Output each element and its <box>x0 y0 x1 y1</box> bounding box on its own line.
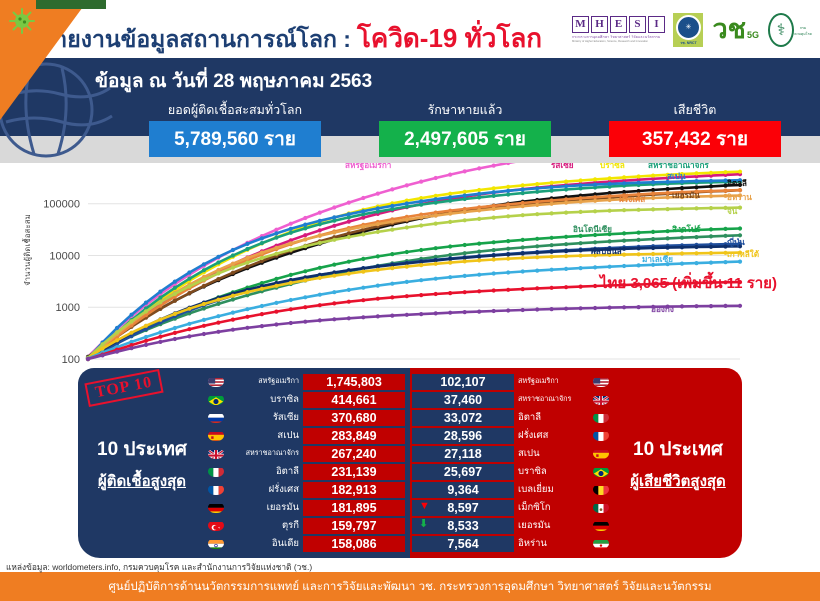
flag-icon-ru <box>208 412 224 423</box>
table-row: สหรัฐอเมริกา1,745,803 <box>208 373 405 390</box>
stat-total-cases: ยอดผู้ติดเชื้อสะสมทั่วโลก 5,789,560 ราย <box>120 104 350 166</box>
table-row: ตุรกี159,797 <box>208 517 405 534</box>
top10-cases-panel: TOP 10 10 ประเทศ ผู้ติดเชื้อสูงสุด สหรัฐ… <box>78 368 410 558</box>
table-row: 102,107สหรัฐอเมริกา <box>412 373 609 390</box>
country-value: 9,364 <box>412 482 514 498</box>
epidemic-curve-chart: 100100010000100000สหรัฐอเมริการัสเซียบรา… <box>0 163 820 368</box>
data-source-note: แหล่งข้อมูล: worldometers.info, กรมควบคุ… <box>6 560 312 574</box>
series-label-12: ญี่ปุ่น <box>727 236 745 248</box>
stat-total-cases-label: ยอดผู้ติดเชื้อสะสมทั่วโลก <box>120 104 350 118</box>
country-name: สหราชอาณาจักร <box>228 448 299 459</box>
series-label-9: จีน <box>727 206 738 216</box>
country-name: เยอรมัน <box>228 500 299 515</box>
mhesi-letter: H <box>591 16 608 33</box>
series-label-15: มาเลเซีย <box>642 254 673 264</box>
footer-bar: ศูนย์ปฏิบัติการด้านนวัตกรรมการแพทย์ และก… <box>0 572 820 601</box>
flag-icon-ir <box>593 538 609 549</box>
mhesi-letter: E <box>610 16 627 33</box>
stat-recovered: รักษาหายแล้ว 2,497,605 ราย <box>350 104 580 166</box>
series-label-10: อินโดนีเซีย <box>573 224 612 234</box>
top10-stamp: TOP 10 <box>84 369 163 407</box>
top10-deaths-panel: 102,107สหรัฐอเมริกา37,460สหราชอาณาจักร33… <box>410 368 742 558</box>
country-name: เม็กซิโก <box>518 500 589 515</box>
cases-panel-heading: TOP 10 10 ประเทศ ผู้ติดเชื้อสูงสุด <box>78 368 206 558</box>
country-name: สหรัฐอเมริกา <box>518 376 589 387</box>
flag-icon-it <box>208 466 224 477</box>
country-name: ตุรกี <box>228 518 299 533</box>
stat-recovered-label: รักษาหายแล้ว <box>350 104 580 118</box>
country-name: สเปน <box>518 446 589 461</box>
page-title-main: รายงานข้อมูลสถานการณ์โลก : <box>42 22 351 58</box>
series-3 <box>86 180 742 362</box>
country-value: 267,240 <box>303 446 405 462</box>
gear-icon: ✳ <box>676 15 701 40</box>
trend-arrow-icon: ▼ <box>419 501 430 512</box>
cases-table: สหรัฐอเมริกา1,745,803บราซิล414,661รัสเซี… <box>206 368 410 558</box>
wo-5g-badge: 5G <box>747 30 759 40</box>
table-row: 28,596ฝรั่งเศส <box>412 427 609 444</box>
flag-icon-br <box>593 466 609 477</box>
stat-deaths-value: 357,432 ราย <box>609 121 781 157</box>
trend-arrow-icon: ⬇ <box>419 519 428 530</box>
country-name: บราซิล <box>228 392 299 407</box>
mhesi-eng-caption: Ministry of Higher Education, Science, R… <box>572 40 665 44</box>
country-name: รัสเซีย <box>228 410 299 425</box>
deaths-heading-line2: ผู้เสียชีวิตสูงสุด <box>630 469 726 493</box>
virus-icon <box>9 8 35 34</box>
country-value: 158,086 <box>303 536 405 552</box>
series-label-14: เกาหลีใต้ <box>727 249 759 259</box>
flag-icon-br <box>208 394 224 405</box>
country-name: เยอรมัน <box>518 518 589 533</box>
country-value: 7,564 <box>412 536 514 552</box>
stat-recovered-value: 2,497,605 ราย <box>379 121 551 157</box>
country-value: 37,460 <box>412 392 514 408</box>
series-label-17: ฮ่องกง <box>651 305 674 314</box>
country-name: อิตาลี <box>228 464 299 479</box>
summary-stats: ยอดผู้ติดเชื้อสะสมทั่วโลก 5,789,560 ราย … <box>120 104 810 166</box>
country-name: อิหร่าน <box>518 536 589 551</box>
footer-text: ศูนย์ปฏิบัติการด้านนวัตกรรมการแพทย์ และก… <box>108 578 711 596</box>
series-label-6: เยอรมัน <box>672 191 700 200</box>
flag-icon-gb <box>208 448 224 459</box>
table-row: 27,118สเปน <box>412 445 609 462</box>
country-value: 8,533⬇ <box>412 518 514 534</box>
mhesi-letter: S <box>629 16 646 33</box>
deaths-panel-heading: 10 ประเทศ ผู้เสียชีวิตสูงสุด <box>614 368 742 558</box>
table-row: ฝรั่งเศส182,913 <box>208 481 405 498</box>
chart-y-axis-label: จำนวนผู้ติดเชื้อสะสม <box>22 214 36 286</box>
flag-icon-in <box>208 538 224 549</box>
flag-icon-es <box>593 448 609 459</box>
table-row: 33,072อิตาลี <box>412 409 609 426</box>
mhesi-letter: I <box>648 16 665 33</box>
country-name: อิตาลี <box>518 410 589 425</box>
country-value: 370,680 <box>303 410 405 426</box>
country-name: สหราชอาณาจักร <box>518 394 589 405</box>
logo-row: M H E S I กระทรวงการอุดมศึกษา วิทยาศาสตร… <box>572 13 812 47</box>
country-value: 33,072 <box>412 410 514 426</box>
stat-deaths: เสียชีวิต 357,432 ราย <box>580 104 810 166</box>
country-value: 231,139 <box>303 464 405 480</box>
chart-canvas: 100100010000100000สหรัฐอเมริการัสเซียบรา… <box>0 163 820 368</box>
series-label-7: ฝรั่งเศส <box>619 193 646 204</box>
country-value: 181,895 <box>303 500 405 516</box>
country-value: 159,797 <box>303 518 405 534</box>
country-name: สหรัฐอเมริกา <box>228 376 299 387</box>
country-name: ฝรั่งเศส <box>518 428 589 443</box>
table-row: 8,597▼เม็กซิโก <box>412 499 609 516</box>
y-axis-tick: 1000 <box>56 302 80 314</box>
flag-icon-de <box>208 502 224 513</box>
caduceus-icon: ⚕ <box>768 13 794 47</box>
y-axis-tick: 10000 <box>49 250 80 262</box>
country-value: 414,661 <box>303 392 405 408</box>
flag-icon-us <box>593 376 609 387</box>
series-label-4: สเปน <box>667 172 686 181</box>
nrct-logo: ✳ วช. NRCT <box>673 13 703 47</box>
flag-icon-es <box>208 430 224 441</box>
flag-icon-tr <box>208 520 224 531</box>
y-axis-tick: 100 <box>62 354 80 366</box>
mhesi-letter: M <box>572 16 589 33</box>
country-name: ฝรั่งเศส <box>228 482 299 497</box>
country-name: สเปน <box>228 428 299 443</box>
flag-icon-gb <box>593 394 609 405</box>
series-label-11: สิงคโปร์ <box>672 224 701 234</box>
report-date: ข้อมูล ณ วันที่ 28 พฤษภาคม 2563 <box>95 66 372 96</box>
thailand-annotation: ไทย 3,065 (เพิ่มขึ้น 11 ราย) <box>598 271 777 292</box>
flag-icon-de <box>593 520 609 531</box>
country-value: 27,118 <box>412 446 514 462</box>
country-value: 102,107 <box>412 374 514 390</box>
table-row: สหราชอาณาจักร267,240 <box>208 445 405 462</box>
table-row: บราซิล414,661 <box>208 391 405 408</box>
country-value: 8,597▼ <box>412 500 514 516</box>
flag-icon-fr <box>593 430 609 441</box>
nrct-caption: วช. NRCT <box>680 41 696 45</box>
series-label-13: ฟิลิปปินส์ <box>590 246 623 256</box>
green-top-strip <box>36 0 106 9</box>
table-row: อิตาลี231,139 <box>208 463 405 480</box>
country-name: เบลเยี่ยม <box>518 482 589 497</box>
moph-logo: ⚕ กรมควบคุมโรค <box>768 13 812 47</box>
stat-total-cases-value: 5,789,560 ราย <box>149 121 321 157</box>
flag-icon-it <box>593 412 609 423</box>
series-label-8: อิหร่าน <box>727 193 752 202</box>
table-row: 37,460สหราชอาณาจักร <box>412 391 609 408</box>
flag-icon-mx <box>593 502 609 513</box>
table-row: รัสเซีย370,680 <box>208 409 405 426</box>
page-header: รายงานข้อมูลสถานการณ์โลก : โควิด-19 ทั่ว… <box>0 9 820 58</box>
cases-heading-line1: 10 ประเทศ <box>97 434 187 464</box>
y-axis-tick: 100000 <box>43 199 80 211</box>
mhesi-letters: M H E S I <box>572 16 665 33</box>
table-row: สเปน283,849 <box>208 427 405 444</box>
table-row: 25,697บราซิล <box>412 463 609 480</box>
table-row: 9,364เบลเยี่ยม <box>412 481 609 498</box>
page-title: รายงานข้อมูลสถานการณ์โลก : โควิด-19 ทั่ว… <box>42 18 542 59</box>
table-row: เยอรมัน181,895 <box>208 499 405 516</box>
flag-icon-fr <box>208 484 224 495</box>
deaths-heading-line1: 10 ประเทศ <box>633 434 723 464</box>
country-value: 1,745,803 <box>303 374 405 390</box>
flag-icon-be <box>593 484 609 495</box>
deaths-table: 102,107สหรัฐอเมริกา37,460สหราชอาณาจักร33… <box>410 368 614 558</box>
series-label-5: อิตาลี <box>727 178 747 188</box>
table-row: อินเดีย158,086 <box>208 535 405 552</box>
country-value: 182,913 <box>303 482 405 498</box>
table-row: 8,533⬇เยอรมัน <box>412 517 609 534</box>
wo-glyph: วช <box>712 19 746 42</box>
stat-deaths-label: เสียชีวิต <box>580 104 810 118</box>
country-name: บราซิล <box>518 464 589 479</box>
page-title-highlight: โควิด-19 ทั่วโลก <box>357 18 542 59</box>
flag-icon-us <box>208 376 224 387</box>
cases-heading-line2: ผู้ติดเชื้อสูงสุด <box>98 469 186 493</box>
table-row: 7,564อิหร่าน <box>412 535 609 552</box>
wo-5g-logo: วช 5G <box>712 19 759 42</box>
moph-caption: กรมควบคุมโรค <box>794 25 812 37</box>
mhesi-logo: M H E S I กระทรวงการอุดมศึกษา วิทยาศาสตร… <box>572 16 664 44</box>
country-name: อินเดีย <box>228 536 299 551</box>
country-value: 25,697 <box>412 464 514 480</box>
country-value: 283,849 <box>303 428 405 444</box>
series-14 <box>86 251 742 360</box>
country-value: 28,596 <box>412 428 514 444</box>
top10-panels: TOP 10 10 ประเทศ ผู้ติดเชื้อสูงสุด สหรัฐ… <box>78 368 742 558</box>
